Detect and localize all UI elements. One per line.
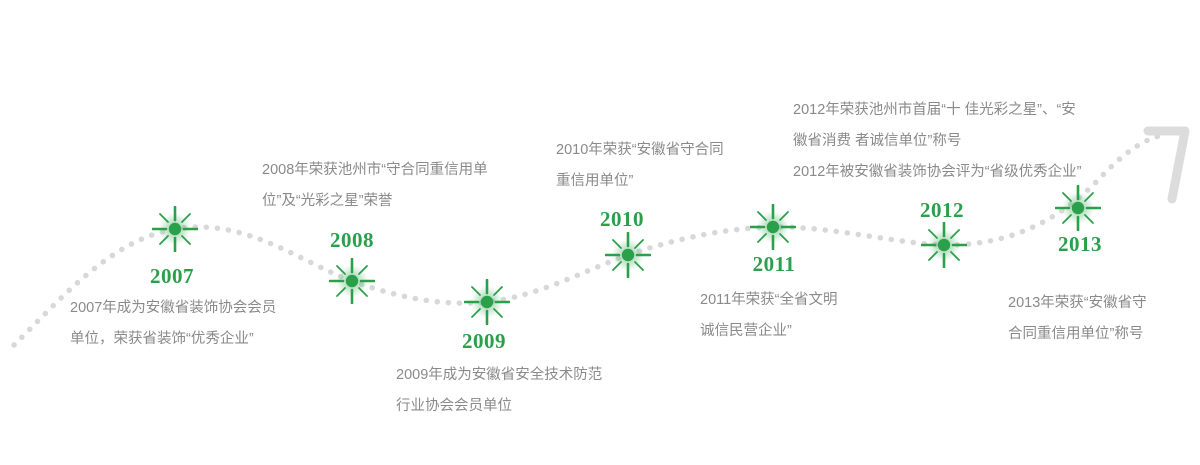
year-label-2013: 2013 [1058, 232, 1102, 257]
description-line: 2012年荣获池州市首届“十 佳光彩之星”、“安 [793, 95, 1081, 126]
arrow-chevron-end-icon [1148, 131, 1185, 199]
description-2008: 2008年荣获池州市“守合同重信用单 位”及“光彩之星”荣誉 [262, 155, 488, 217]
description-line: 2012年被安徽省装饰协会评为“省级优秀企业” [793, 157, 1081, 188]
description-line: 2007年成为安徽省装饰协会会员 [70, 293, 276, 324]
description-line: 2009年成为安徽省安全技术防范 [396, 360, 602, 391]
starburst-icon-2010 [605, 232, 651, 278]
year-label-2010: 2010 [600, 207, 644, 232]
description-line: 徽省消费 者诚信单位”称号 [793, 126, 1081, 157]
description-line: 合同重信用单位”称号 [1008, 319, 1147, 350]
year-label-2007: 2007 [150, 264, 194, 289]
description-2011: 2011年荣获“全省文明 诚信民营企业” [700, 285, 838, 347]
year-label-2011: 2011 [753, 252, 796, 277]
year-label-2012: 2012 [920, 198, 964, 223]
starburst-icon-2011 [750, 204, 796, 250]
description-2012: 2012年荣获池州市首届“十 佳光彩之星”、“安 徽省消费 者诚信单位”称号 2… [793, 95, 1081, 188]
timeline-infographic: 2007 2007年成为安徽省装饰协会会员 单位，荣获省装饰“优秀企业” 200… [0, 0, 1200, 465]
description-line: 2011年荣获“全省文明 [700, 285, 838, 316]
starburst-icon-2008 [329, 258, 375, 304]
starburst-icon-2013 [1055, 185, 1101, 231]
description-line: 诚信民营企业” [700, 316, 838, 347]
description-line: 位”及“光彩之星”荣誉 [262, 186, 488, 217]
starburst-icon-2007 [152, 206, 198, 252]
description-line: 单位，荣获省装饰“优秀企业” [70, 324, 276, 355]
starburst-icon-2009 [464, 279, 510, 325]
description-line: 重信用单位” [556, 166, 724, 197]
description-line: 行业协会会员单位 [396, 391, 602, 422]
description-line: 2010年荣获“安徽省守合同 [556, 135, 724, 166]
year-label-2008: 2008 [330, 228, 374, 253]
description-2009: 2009年成为安徽省安全技术防范 行业协会会员单位 [396, 360, 602, 422]
description-line: 2013年荣获“安徽省守 [1008, 288, 1147, 319]
description-2010: 2010年荣获“安徽省守合同 重信用单位” [556, 135, 724, 197]
description-2013: 2013年荣获“安徽省守 合同重信用单位”称号 [1008, 288, 1147, 350]
starburst-icon-2012 [921, 222, 967, 268]
description-2007: 2007年成为安徽省装饰协会会员 单位，荣获省装饰“优秀企业” [70, 293, 276, 355]
year-label-2009: 2009 [462, 329, 506, 354]
description-line: 2008年荣获池州市“守合同重信用单 [262, 155, 488, 186]
